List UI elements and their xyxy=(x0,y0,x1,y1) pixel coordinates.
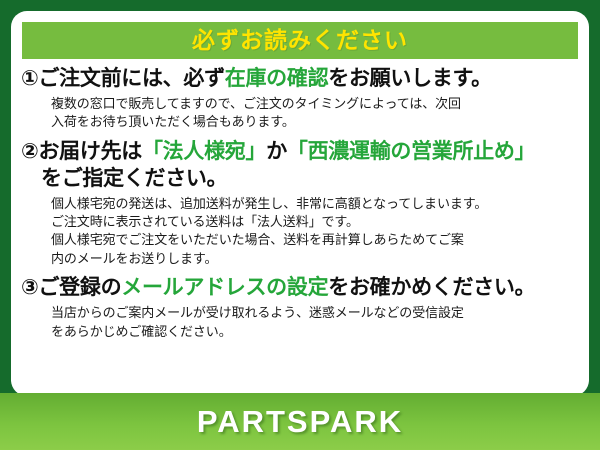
notice-item-2-heading-part-1: ②お届け先は xyxy=(21,140,142,163)
notice-item-2-body-line-1: 個人様宅宛の発送は、追加送料が発生し、非常に高額となってしまいます。 xyxy=(51,195,581,213)
page-title: 必ずお読みください xyxy=(192,29,408,52)
notice-header-band: 必ずお読みください xyxy=(22,22,578,59)
notice-item-1-heading: ①ご注文前には、必ず在庫の確認をお願いします。 xyxy=(21,66,581,93)
notice-item-1-body-line-1: 複数の窓口で販売してますので、ご注文のタイミングによっては、次回 xyxy=(51,95,581,113)
notice-item-3-heading-part-1: ③ご登録の xyxy=(21,276,121,299)
notice-item-2-heading: ②お届け先は「法人様宛」か「西濃運輸の営業所止め」 xyxy=(21,139,581,166)
notice-item-3-body-line-2: をあらかじめご確認ください。 xyxy=(51,323,581,341)
notice-item-2-heading-part-3: か xyxy=(266,140,287,163)
notice-item-3-heading-highlight: メールアドレスの設定 xyxy=(121,276,328,299)
notice-item-1-body: 複数の窓口で販売してますので、ご注文のタイミングによっては、次回 入荷をお待ち頂… xyxy=(21,95,581,132)
notice-item-2-heading-highlight-2: 「西濃運輸の営業所止め」 xyxy=(287,140,535,163)
notice-item-3: ③ご登録のメールアドレスの設定をお確かめください。 当店からのご案内メールが受け… xyxy=(11,275,589,341)
notice-item-2-heading-highlight-1: 「法人様宛」 xyxy=(142,140,266,163)
notice-item-3-heading: ③ご登録のメールアドレスの設定をお確かめください。 xyxy=(21,275,581,302)
notice-item-2-body: 個人様宅宛の発送は、追加送料が発生し、非常に高額となってしまいます。 ご注文時に… xyxy=(21,195,581,269)
notice-item-1-body-line-2: 入荷をお待ち頂いただく場合もあります。 xyxy=(51,113,581,131)
notice-item-2: ②お届け先は「法人様宛」か「西濃運輸の営業所止め」 をご指定ください。 個人様宅… xyxy=(11,139,589,269)
notice-item-3-body-line-1: 当店からのご案内メールが受け取れるよう、迷惑メールなどの受信設定 xyxy=(51,304,581,322)
notice-item-1: ①ご注文前には、必ず在庫の確認をお願いします。 複数の窓口で販売してますので、ご… xyxy=(11,66,589,132)
notice-item-2-body-line-2: ご注文時に表示されている送料は「法人送料」です。 xyxy=(51,213,581,231)
notice-item-1-heading-part-1: ①ご注文前には、必ず xyxy=(21,67,225,90)
notice-items-list: ①ご注文前には、必ず在庫の確認をお願いします。 複数の窓口で販売してますので、ご… xyxy=(11,66,589,341)
partspark-logo: PARTSPARK xyxy=(197,406,403,437)
notice-item-1-heading-part-3: をお願いします。 xyxy=(328,67,492,90)
notice-item-3-heading-part-3: をお確かめください。 xyxy=(328,276,535,299)
notice-item-2-heading-continuation: をご指定ください。 xyxy=(21,166,581,193)
notice-item-3-body: 当店からのご案内メールが受け取れるよう、迷惑メールなどの受信設定 をあらかじめご… xyxy=(21,304,581,341)
footer-band: PARTSPARK xyxy=(0,393,600,450)
notice-item-1-heading-highlight: 在庫の確認 xyxy=(225,67,329,90)
notice-item-2-body-line-3: 個人様宅宛でご注文をいただいた場合、送料を再計算しあらためてご案 xyxy=(51,231,581,249)
notice-item-2-body-line-4: 内のメールをお送りします。 xyxy=(51,250,581,268)
notice-banner: 必ずお読みください ①ご注文前には、必ず在庫の確認をお願いします。 複数の窓口で… xyxy=(0,0,600,450)
notice-panel: 必ずお読みください ①ご注文前には、必ず在庫の確認をお願いします。 複数の窓口で… xyxy=(11,11,589,396)
